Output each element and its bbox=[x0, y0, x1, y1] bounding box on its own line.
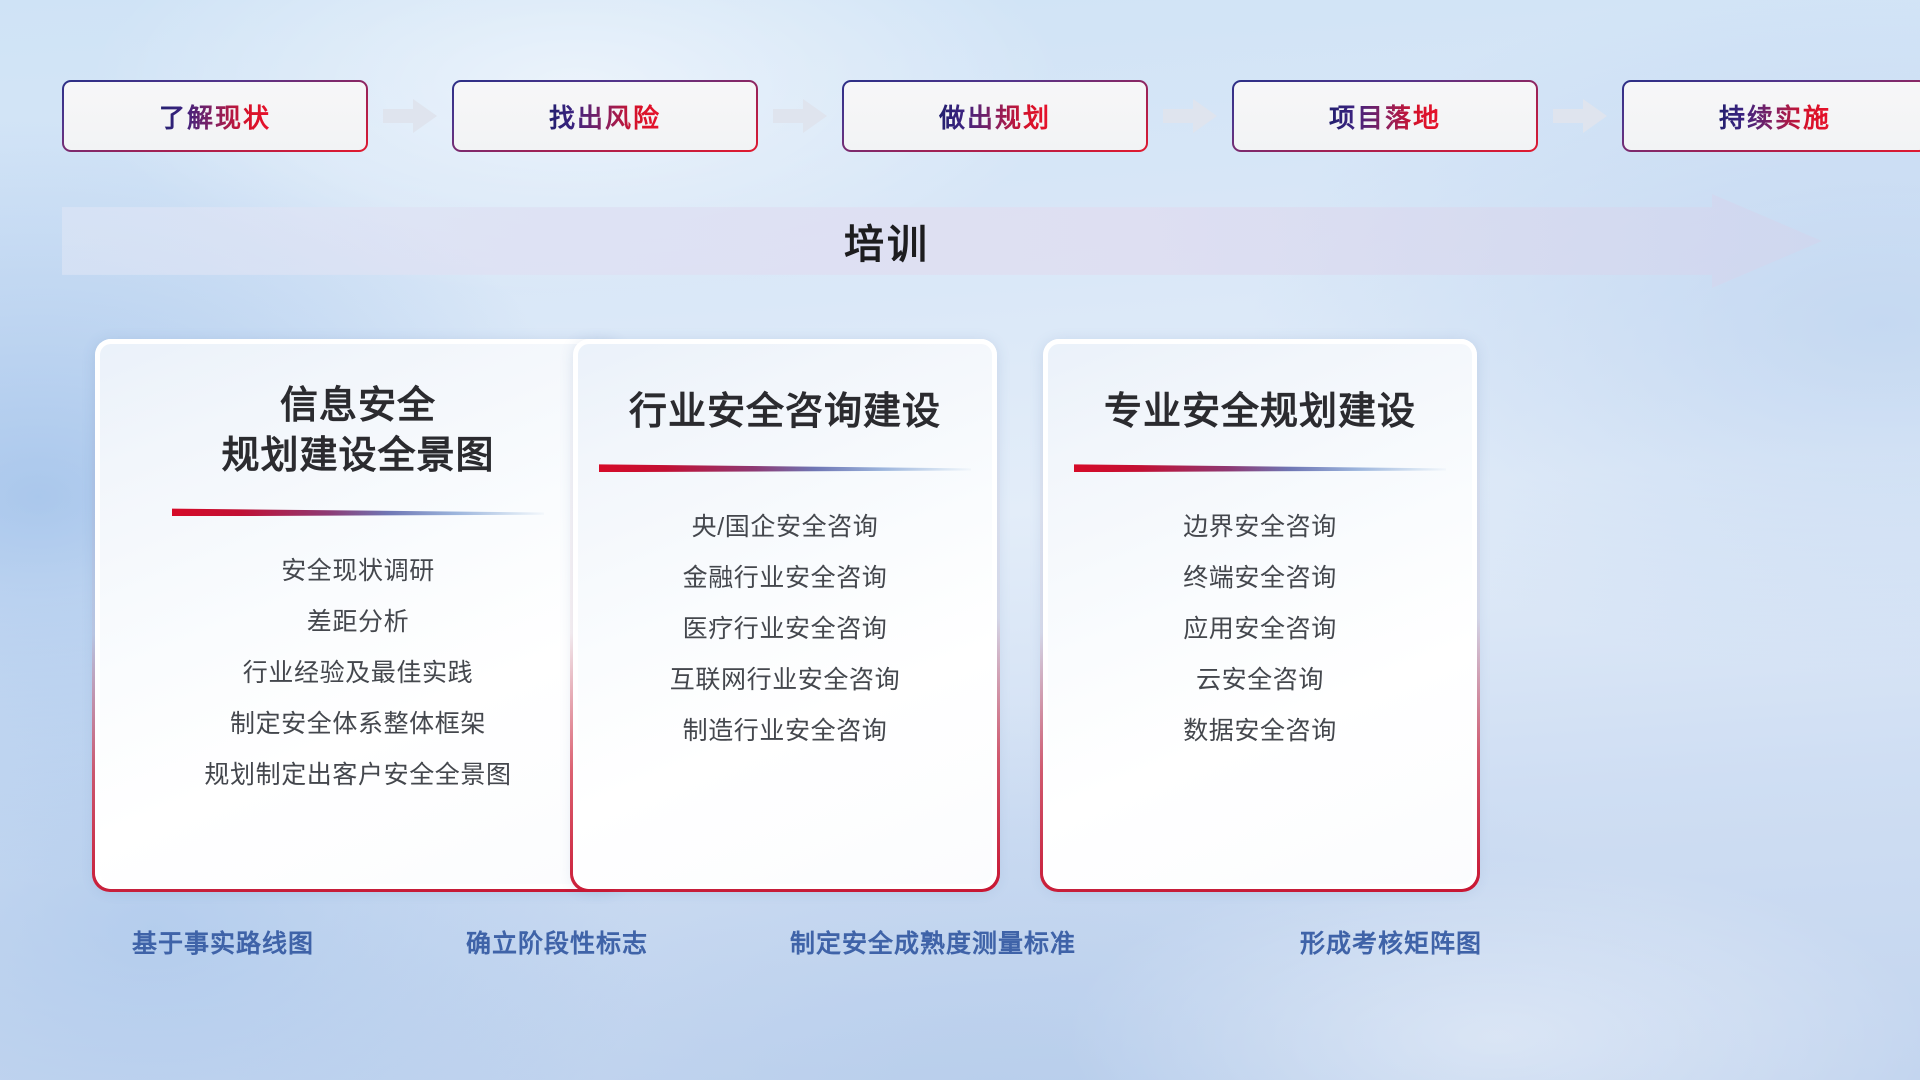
list-item: 边界安全咨询 bbox=[1043, 502, 1477, 553]
process-step-3-body: 做出规划 bbox=[844, 82, 1146, 150]
card-3-divider bbox=[1074, 463, 1446, 472]
card-2-divider bbox=[599, 463, 971, 472]
caption-4: 形成考核矩阵图 bbox=[1300, 924, 1482, 960]
banner-label: 培训 bbox=[62, 212, 1712, 270]
list-item: 行业经验及最佳实践 bbox=[95, 648, 621, 699]
process-step-4-label: 项目落地 bbox=[1329, 98, 1441, 135]
card-1-title: 信息安全 规划建设全景图 bbox=[221, 381, 494, 481]
training-banner: 培训 bbox=[62, 194, 1822, 288]
list-item: 金融行业安全咨询 bbox=[573, 553, 997, 604]
process-step-5-label: 持续实施 bbox=[1719, 98, 1831, 135]
card-3-list: 边界安全咨询 终端安全咨询 应用安全咨询 云安全咨询 数据安全咨询 bbox=[1043, 502, 1477, 757]
process-step-2-body: 找出风险 bbox=[454, 82, 756, 150]
list-item: 差距分析 bbox=[95, 597, 621, 648]
list-item: 终端安全咨询 bbox=[1043, 553, 1477, 604]
caption-1: 基于事实路线图 bbox=[132, 924, 314, 960]
arrow-right-icon bbox=[1550, 96, 1610, 136]
process-step-3-label: 做出规划 bbox=[939, 98, 1051, 135]
card-3-title: 专业安全规划建设 bbox=[1104, 387, 1416, 437]
process-step-5-body: 持续实施 bbox=[1624, 82, 1920, 150]
list-item: 规划制定出客户安全全景图 bbox=[95, 750, 621, 801]
card-1-divider bbox=[172, 507, 544, 516]
card-3[interactable]: 专业安全规划建设 边界安全咨询 终端安全咨询 应用安全咨询 云安全咨询 数据安全… bbox=[1040, 336, 1480, 892]
list-item: 制定安全体系整体框架 bbox=[95, 699, 621, 750]
arrow-right-icon bbox=[770, 96, 830, 136]
process-step-1[interactable]: 了解现状 bbox=[62, 80, 368, 152]
list-item: 央/国企安全咨询 bbox=[573, 502, 997, 553]
list-item: 互联网行业安全咨询 bbox=[573, 655, 997, 706]
card-3-body: 专业安全规划建设 边界安全咨询 终端安全咨询 应用安全咨询 云安全咨询 数据安全… bbox=[1043, 339, 1477, 889]
card-1[interactable]: 信息安全 规划建设全景图 安全现状调研 差距分析 行业经验及最佳实践 制定安全体… bbox=[92, 336, 624, 892]
arrow-right-icon bbox=[1160, 96, 1220, 136]
process-step-1-body: 了解现状 bbox=[64, 82, 366, 150]
list-item: 云安全咨询 bbox=[1043, 655, 1477, 706]
card-2-title: 行业安全咨询建设 bbox=[629, 387, 941, 437]
list-item: 应用安全咨询 bbox=[1043, 604, 1477, 655]
process-step-1-label: 了解现状 bbox=[159, 98, 271, 135]
arrow-right-icon bbox=[380, 96, 440, 136]
card-1-list: 安全现状调研 差距分析 行业经验及最佳实践 制定安全体系整体框架 规划制定出客户… bbox=[95, 546, 621, 801]
process-step-2[interactable]: 找出风险 bbox=[452, 80, 758, 152]
card-row: 信息安全 规划建设全景图 安全现状调研 差距分析 行业经验及最佳实践 制定安全体… bbox=[0, 336, 1920, 892]
card-1-body: 信息安全 规划建设全景图 安全现状调研 差距分析 行业经验及最佳实践 制定安全体… bbox=[95, 339, 621, 889]
process-step-4-body: 项目落地 bbox=[1234, 82, 1536, 150]
caption-row: 基于事实路线图 确立阶段性标志 制定安全成熟度测量标准 形成考核矩阵图 bbox=[0, 924, 1920, 972]
caption-2: 确立阶段性标志 bbox=[466, 924, 648, 960]
list-item: 安全现状调研 bbox=[95, 546, 621, 597]
process-step-row: 了解现状 找出风险 做出规划 bbox=[62, 78, 1862, 154]
card-2[interactable]: 行业安全咨询建设 央/国企安全咨询 金融行业安全咨询 医疗行业安全咨询 互联网行… bbox=[570, 336, 1000, 892]
process-step-4[interactable]: 项目落地 bbox=[1232, 80, 1538, 152]
process-step-2-label: 找出风险 bbox=[549, 98, 661, 135]
slide-canvas: 了解现状 找出风险 做出规划 bbox=[0, 0, 1920, 1080]
process-step-3[interactable]: 做出规划 bbox=[842, 80, 1148, 152]
list-item: 医疗行业安全咨询 bbox=[573, 604, 997, 655]
process-step-5[interactable]: 持续实施 bbox=[1622, 80, 1920, 152]
list-item: 数据安全咨询 bbox=[1043, 706, 1477, 757]
caption-3: 制定安全成熟度测量标准 bbox=[790, 924, 1076, 960]
card-2-list: 央/国企安全咨询 金融行业安全咨询 医疗行业安全咨询 互联网行业安全咨询 制造行… bbox=[573, 502, 997, 757]
list-item: 制造行业安全咨询 bbox=[573, 706, 997, 757]
card-2-body: 行业安全咨询建设 央/国企安全咨询 金融行业安全咨询 医疗行业安全咨询 互联网行… bbox=[573, 339, 997, 889]
